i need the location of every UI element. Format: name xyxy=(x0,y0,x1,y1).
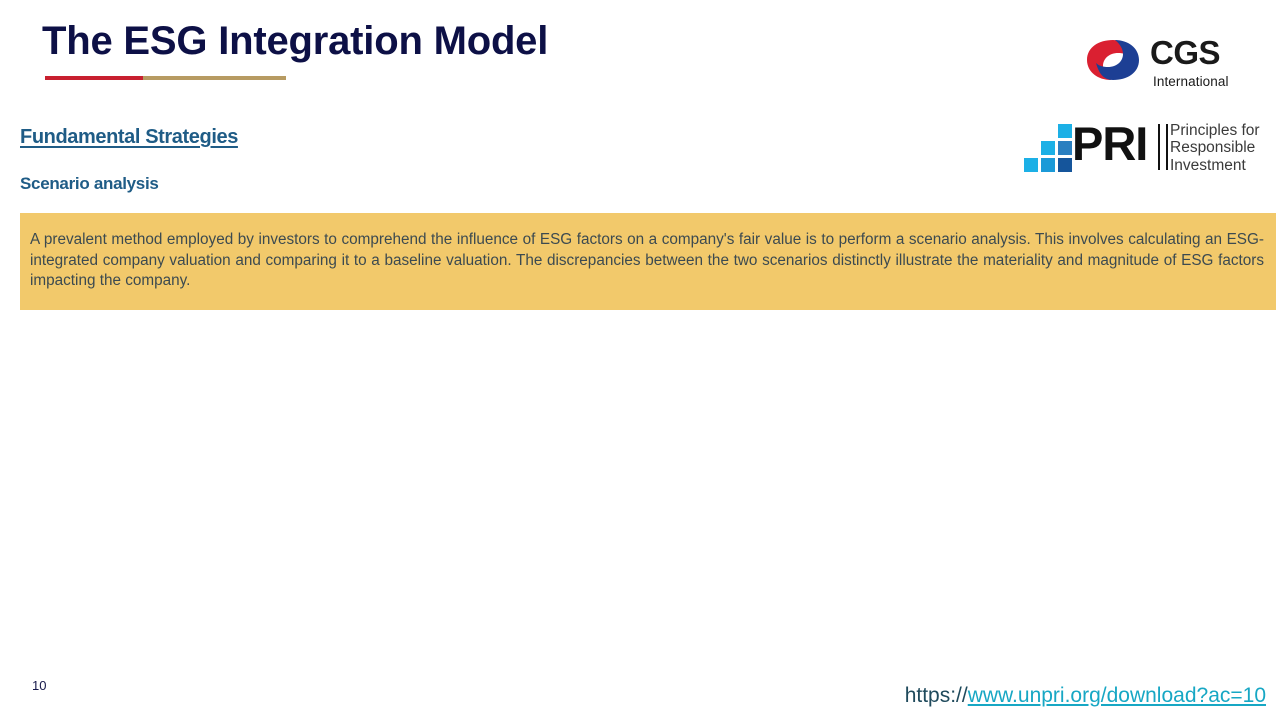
section-heading: Fundamental Strategies xyxy=(20,126,238,149)
pri-square xyxy=(1058,158,1072,172)
title-accent-red-segment xyxy=(45,76,143,80)
pri-square xyxy=(1041,141,1055,155)
pri-square xyxy=(1058,124,1072,138)
source-url-prefix: https:// xyxy=(905,684,968,707)
page-number: 10 xyxy=(32,678,46,693)
title-accent-bar xyxy=(45,76,286,80)
pri-letters: PRI xyxy=(1072,118,1147,170)
pri-tagline-line-2: Responsible xyxy=(1170,139,1260,156)
source-url-link[interactable]: www.unpri.org/download?ac=10 xyxy=(968,684,1266,707)
title-accent-gold-segment xyxy=(143,76,286,80)
page-title: The ESG Integration Model xyxy=(42,19,548,64)
pri-square xyxy=(1041,158,1055,172)
pri-tagline-line-3: Investment xyxy=(1170,157,1260,174)
cgs-swirl-icon xyxy=(1082,36,1144,84)
callout-box: A prevalent method employed by investors… xyxy=(20,213,1276,310)
pri-square xyxy=(1024,158,1038,172)
pri-mosaic-icon xyxy=(1024,126,1076,172)
callout-text: A prevalent method employed by investors… xyxy=(30,230,1264,292)
cgs-wordmark: CGS xyxy=(1150,36,1220,70)
cgs-logo: CGS International xyxy=(1082,34,1262,94)
pri-tagline: Principles for Responsible Investment xyxy=(1170,122,1260,174)
pri-divider xyxy=(1158,124,1168,170)
pri-square xyxy=(1058,141,1072,155)
pri-logo: PRI Principles for Responsible Investmen… xyxy=(1024,120,1276,176)
pri-tagline-line-1: Principles for xyxy=(1170,122,1260,139)
subsection-heading: Scenario analysis xyxy=(20,174,159,194)
source-url: https://www.unpri.org/download?ac=10 xyxy=(905,684,1266,708)
cgs-subtext: International xyxy=(1153,74,1229,89)
